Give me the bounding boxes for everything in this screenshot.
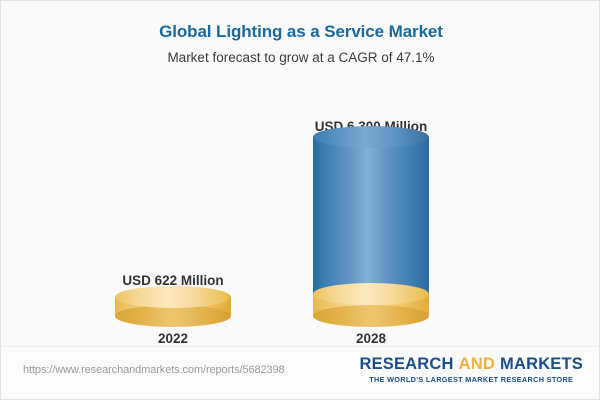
logo-tagline: THE WORLD'S LARGEST MARKET RESEARCH STOR… xyxy=(359,375,583,384)
chart-card: Global Lighting as a Service Market Mark… xyxy=(0,0,600,400)
logo-word-markets: MARKETS xyxy=(500,355,583,373)
bar-top-ellipse-2028 xyxy=(313,126,429,148)
logo-wordmark: RESEARCHANDMARKETS xyxy=(359,355,583,374)
bar-top-ellipse-2022 xyxy=(115,286,231,308)
source-url[interactable]: https://www.researchandmarkets.com/repor… xyxy=(23,364,285,376)
chart-subtitle: Market forecast to grow at a CAGR of 47.… xyxy=(1,49,600,67)
logo-word-and: AND xyxy=(459,355,495,373)
page-title: Global Lighting as a Service Market xyxy=(1,21,600,43)
chart-header: Global Lighting as a Service Market Mark… xyxy=(1,1,600,67)
chart-footer: https://www.researchandmarkets.com/repor… xyxy=(1,346,600,399)
bar-bottom-ellipse-2022 xyxy=(115,305,231,327)
bar-body-2028 xyxy=(313,137,429,294)
category-label-2028: 2028 xyxy=(281,331,461,346)
bar-bottom-ellipse-2028 xyxy=(313,305,429,327)
bar-cylinder-2028[interactable] xyxy=(313,126,429,316)
logo-word-research: RESEARCH xyxy=(359,355,453,373)
category-label-2022: 2022 xyxy=(83,331,263,346)
bar-cylinder-2022[interactable] xyxy=(115,286,231,316)
chart-plot-area: USD 622 Million 2022 USD 6,300 Million 2… xyxy=(1,81,600,346)
brand-logo[interactable]: RESEARCHANDMARKETS THE WORLD'S LARGEST M… xyxy=(359,355,583,384)
bar-base-top-ellipse-2028 xyxy=(313,283,429,305)
